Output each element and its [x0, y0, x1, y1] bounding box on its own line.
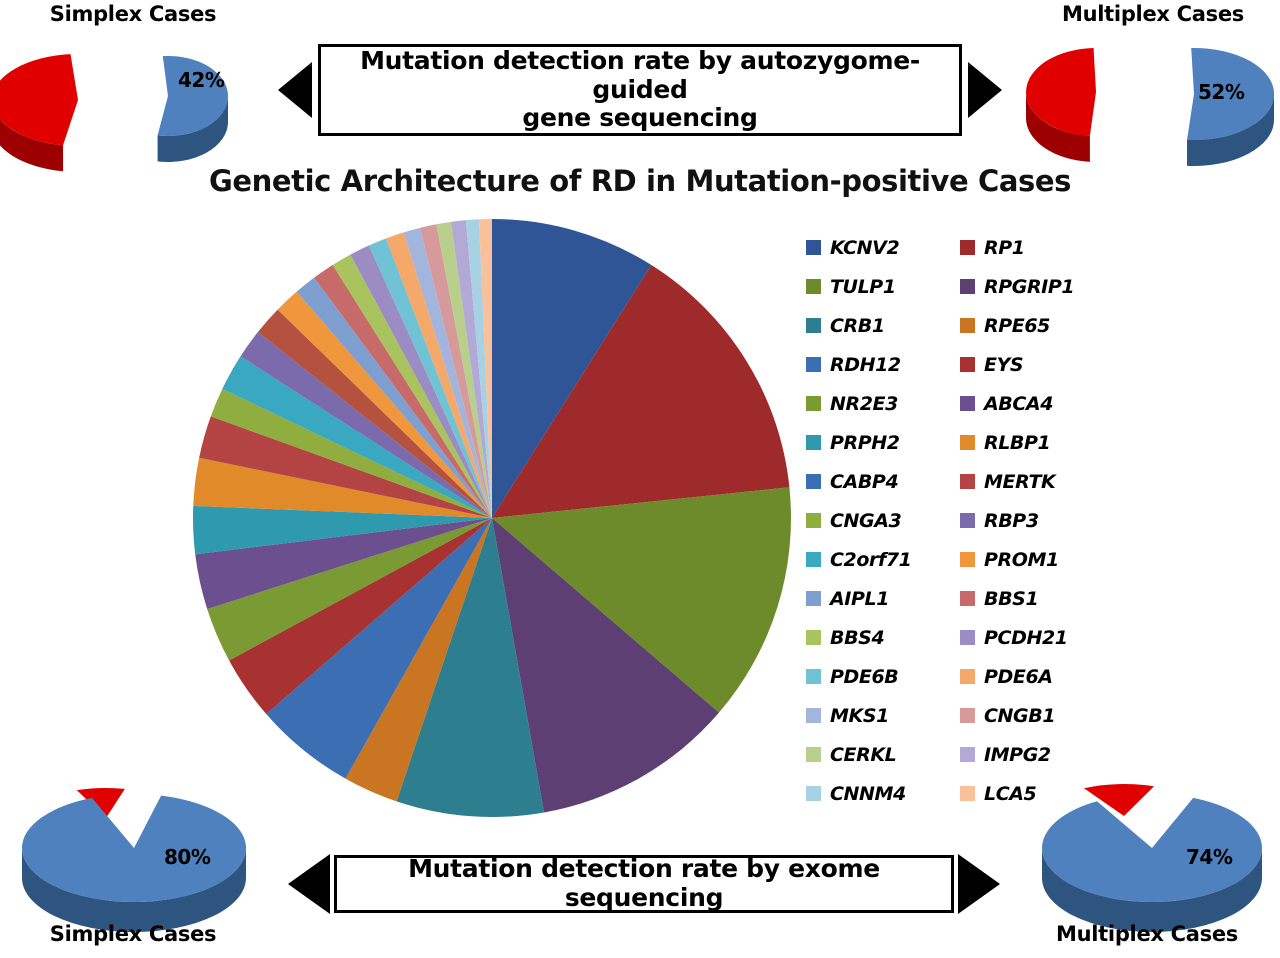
legend-item[interactable]: CNGB1 [960, 696, 1140, 735]
legend-color-swatch [806, 747, 821, 762]
legend-item-label: RLBP1 [984, 432, 1050, 454]
legend-item[interactable]: KCNV2 [806, 228, 956, 267]
legend-item-label: PROM1 [984, 549, 1059, 571]
legend-color-swatch [806, 552, 821, 567]
legend-item-label: NR2E3 [830, 393, 898, 415]
legend-item-label: RPE65 [984, 315, 1050, 337]
corner-title-text: Simplex Cases [8, 2, 258, 26]
legend-item[interactable]: BBS1 [960, 579, 1140, 618]
legend-color-swatch [960, 630, 975, 645]
triangle-right-icon [958, 854, 1000, 914]
bottom-banner-box: Mutation detection rate by exome sequenc… [334, 855, 954, 913]
legend-item[interactable]: IMPG2 [960, 735, 1140, 774]
legend-color-swatch [960, 279, 975, 294]
legend-item[interactable]: RBP3 [960, 501, 1140, 540]
legend-color-swatch [806, 318, 821, 333]
legend-item[interactable]: CERKL [806, 735, 956, 774]
legend-color-swatch [806, 591, 821, 606]
legend-item-label: CRB1 [830, 315, 885, 337]
legend-column-left: KCNV2TULP1CRB1RDH12NR2E3PRPH2CABP4CNGA3C… [806, 228, 956, 813]
legend-item[interactable]: RPE65 [960, 306, 1140, 345]
corner-title-text: Multiplex Cases [1028, 2, 1278, 26]
legend-color-swatch [960, 747, 975, 762]
bottom-banner-line1: Mutation detection rate by exome sequenc… [408, 854, 880, 912]
legend-color-swatch [806, 474, 821, 489]
legend-item[interactable]: RPGRIP1 [960, 267, 1140, 306]
legend-color-swatch [960, 552, 975, 567]
corner-pie-top-left [0, 34, 256, 164]
top-banner-line1: Mutation detection rate by autozygome-gu… [360, 46, 920, 104]
corner-chart-top-left-title: Simplex Cases [8, 2, 258, 26]
corner-chart-top-right-title: Multiplex Cases [1028, 2, 1278, 26]
legend-color-swatch [806, 786, 821, 801]
page-title: Genetic Architecture of RD in Mutation-p… [0, 164, 1280, 198]
legend-item-label: PRPH2 [830, 432, 900, 454]
legend-color-swatch [806, 630, 821, 645]
legend-item-label: CNGB1 [984, 705, 1055, 727]
corner-title-text: Multiplex Cases [1022, 922, 1272, 946]
legend-item-label: BBS4 [830, 627, 884, 649]
legend-color-swatch [806, 396, 821, 411]
legend-item-label: IMPG2 [984, 744, 1051, 766]
legend-color-swatch [806, 357, 821, 372]
legend-color-swatch [960, 357, 975, 372]
legend: KCNV2TULP1CRB1RDH12NR2E3PRPH2CABP4CNGA3C… [806, 228, 1136, 813]
legend-item-label: ABCA4 [984, 393, 1053, 415]
legend-color-swatch [960, 318, 975, 333]
legend-color-swatch [806, 279, 821, 294]
legend-item-label: CNGA3 [830, 510, 901, 532]
top-banner-box: Mutation detection rate by autozygome-gu… [318, 44, 962, 136]
legend-item[interactable]: AIPL1 [806, 579, 956, 618]
corner-title-text: Simplex Cases [8, 922, 258, 946]
triangle-left-icon [288, 854, 330, 914]
legend-item[interactable]: BBS4 [806, 618, 956, 657]
legend-color-swatch [960, 669, 975, 684]
legend-item-label: BBS1 [984, 588, 1038, 610]
legend-item[interactable]: NR2E3 [806, 384, 956, 423]
triangle-right-icon [968, 62, 1002, 118]
legend-item[interactable]: PDE6B [806, 657, 956, 696]
triangle-left-icon [278, 62, 312, 118]
legend-item-label: CNNM4 [830, 783, 906, 805]
main-pie-chart: KCNV2RP1TULP1RPGRIP1CRB1RPE65RDH12EYSNR2… [188, 214, 796, 822]
legend-color-swatch [806, 669, 821, 684]
legend-item-label: AIPL1 [830, 588, 889, 610]
corner-pie-bottom-right-percent: 74% [1186, 845, 1232, 869]
legend-color-swatch [960, 708, 975, 723]
top-banner: Mutation detection rate by autozygome-gu… [278, 44, 1002, 136]
legend-color-swatch [960, 435, 975, 450]
legend-item[interactable]: CNGA3 [806, 501, 956, 540]
legend-item-label: KCNV2 [830, 237, 899, 259]
legend-item[interactable]: PRPH2 [806, 423, 956, 462]
legend-item[interactable]: CRB1 [806, 306, 956, 345]
legend-item[interactable]: C2orf71 [806, 540, 956, 579]
legend-color-swatch [806, 435, 821, 450]
legend-item[interactable]: PROM1 [960, 540, 1140, 579]
legend-color-swatch [960, 396, 975, 411]
legend-item-label: LCA5 [984, 783, 1036, 805]
corner-pie-top-right-percent: 52% [1198, 80, 1244, 104]
main-pie-svg: KCNV2RP1TULP1RPGRIP1CRB1RPE65RDH12EYSNR2… [188, 214, 796, 822]
legend-item-label: RBP3 [984, 510, 1039, 532]
corner-chart-bottom-left-title: Simplex Cases [8, 922, 258, 946]
legend-item[interactable]: RP1 [960, 228, 1140, 267]
legend-color-swatch [960, 513, 975, 528]
legend-item-label: TULP1 [830, 276, 896, 298]
legend-item[interactable]: CNNM4 [806, 774, 956, 813]
legend-item-label: RP1 [984, 237, 1025, 259]
legend-item[interactable]: PDE6A [960, 657, 1140, 696]
corner-pie-bottom-left-percent: 80% [164, 845, 210, 869]
legend-item-label: RPGRIP1 [984, 276, 1074, 298]
legend-color-swatch [960, 474, 975, 489]
legend-item[interactable]: ABCA4 [960, 384, 1140, 423]
legend-color-swatch [806, 513, 821, 528]
legend-item[interactable]: EYS [960, 345, 1140, 384]
legend-item[interactable]: PCDH21 [960, 618, 1140, 657]
legend-color-swatch [806, 708, 821, 723]
top-banner-line2: gene sequencing [522, 103, 757, 132]
legend-item[interactable]: LCA5 [960, 774, 1140, 813]
legend-item-label: PDE6B [830, 666, 898, 688]
legend-item-label: MERTK [984, 471, 1055, 493]
legend-column-right: RP1RPGRIP1RPE65EYSABCA4RLBP1MERTKRBP3PRO… [960, 228, 1140, 813]
legend-item[interactable]: RDH12 [806, 345, 956, 384]
legend-item[interactable]: RLBP1 [960, 423, 1140, 462]
legend-color-swatch [806, 240, 821, 255]
legend-item-label: MKS1 [830, 705, 889, 727]
legend-item-label: CABP4 [830, 471, 898, 493]
legend-item-label: PDE6A [984, 666, 1053, 688]
legend-item-label: C2orf71 [830, 549, 912, 571]
legend-item-label: CERKL [830, 744, 896, 766]
legend-item[interactable]: MERTK [960, 462, 1140, 501]
legend-item-label: EYS [984, 354, 1023, 376]
legend-color-swatch [960, 591, 975, 606]
legend-item-label: RDH12 [830, 354, 901, 376]
legend-color-swatch [960, 786, 975, 801]
corner-chart-bottom-right-title: Multiplex Cases [1022, 922, 1272, 946]
corner-pie-top-left-percent: 42% [178, 68, 224, 92]
legend-item[interactable]: CABP4 [806, 462, 956, 501]
legend-item[interactable]: TULP1 [806, 267, 956, 306]
bottom-banner: Mutation detection rate by exome sequenc… [288, 853, 1000, 915]
legend-item[interactable]: MKS1 [806, 696, 956, 735]
legend-color-swatch [960, 240, 975, 255]
legend-item-label: PCDH21 [984, 627, 1068, 649]
